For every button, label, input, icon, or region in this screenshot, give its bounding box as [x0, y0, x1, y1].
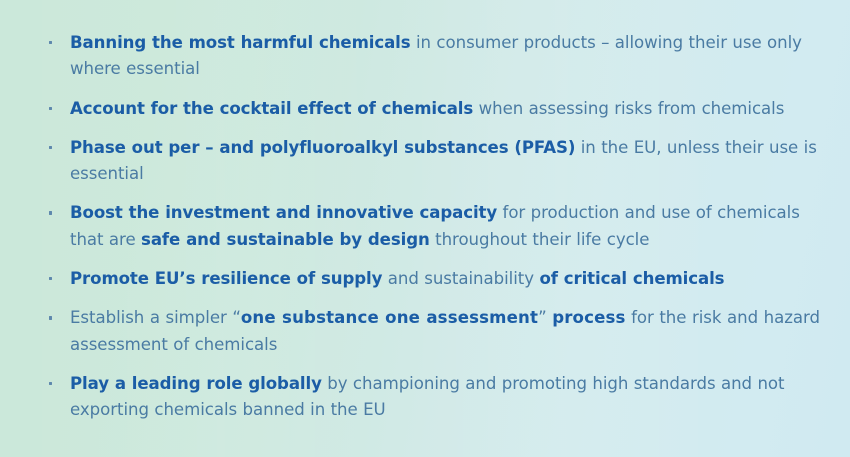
bullet-text-emphasis: safe and sustainable by design — [141, 230, 430, 249]
bullet-text: throughout their life cycle — [430, 230, 650, 249]
bullet-point-icon — [49, 211, 52, 214]
bullet-text: when assessing risks from chemicals — [473, 99, 784, 118]
bullet-item-phase-out-pfas: Phase out per – and polyfluoroalkyl subs… — [42, 135, 820, 188]
bullet-text-emphasis: one substance one assessment — [241, 308, 538, 327]
bullet-item-boost-investment: Boost the investment and innovative capa… — [42, 200, 820, 253]
bullet-text-emphasis: of critical chemicals — [539, 269, 724, 288]
bullet-text-emphasis: Boost the investment and innovative capa… — [70, 203, 497, 222]
bullet-text: ” — [538, 308, 552, 327]
bullet-text: Establish a simpler “ — [70, 308, 241, 327]
bullet-item-leading-role-globally: Play a leading role globally by champion… — [42, 371, 820, 424]
bullet-text-emphasis: process — [552, 308, 625, 327]
bullet-item-one-substance-one-assessment: Establish a simpler “one substance one a… — [42, 305, 820, 358]
bullet-item-cocktail-effect: Account for the cocktail effect of chemi… — [42, 96, 820, 122]
bullet-point-icon — [49, 277, 52, 280]
bullet-point-icon — [49, 146, 52, 149]
bullet-text-emphasis: Play a leading role globally — [70, 374, 322, 393]
bullet-point-icon — [49, 41, 52, 44]
bullet-item-promote-resilience-of-supply: Promote EU’s resilience of supply and su… — [42, 266, 820, 292]
bullet-text-emphasis: Account for the cocktail effect of chemi… — [70, 99, 473, 118]
bullet-point-icon — [49, 382, 52, 385]
bullet-text-emphasis: Phase out per – and polyfluoroalkyl subs… — [70, 138, 575, 157]
slide-canvas: Banning the most harmful chemicals in co… — [0, 0, 850, 457]
bullet-item-banning-harmful-chemicals: Banning the most harmful chemicals in co… — [42, 30, 820, 83]
bullet-point-icon — [49, 316, 52, 319]
bullet-text-emphasis: Promote EU’s resilience of supply — [70, 269, 382, 288]
bullet-list: Banning the most harmful chemicals in co… — [0, 0, 850, 424]
bullet-text: and sustainability — [382, 269, 539, 288]
bullet-point-icon — [49, 107, 52, 110]
bullet-text-emphasis: Banning the most harmful chemicals — [70, 33, 411, 52]
